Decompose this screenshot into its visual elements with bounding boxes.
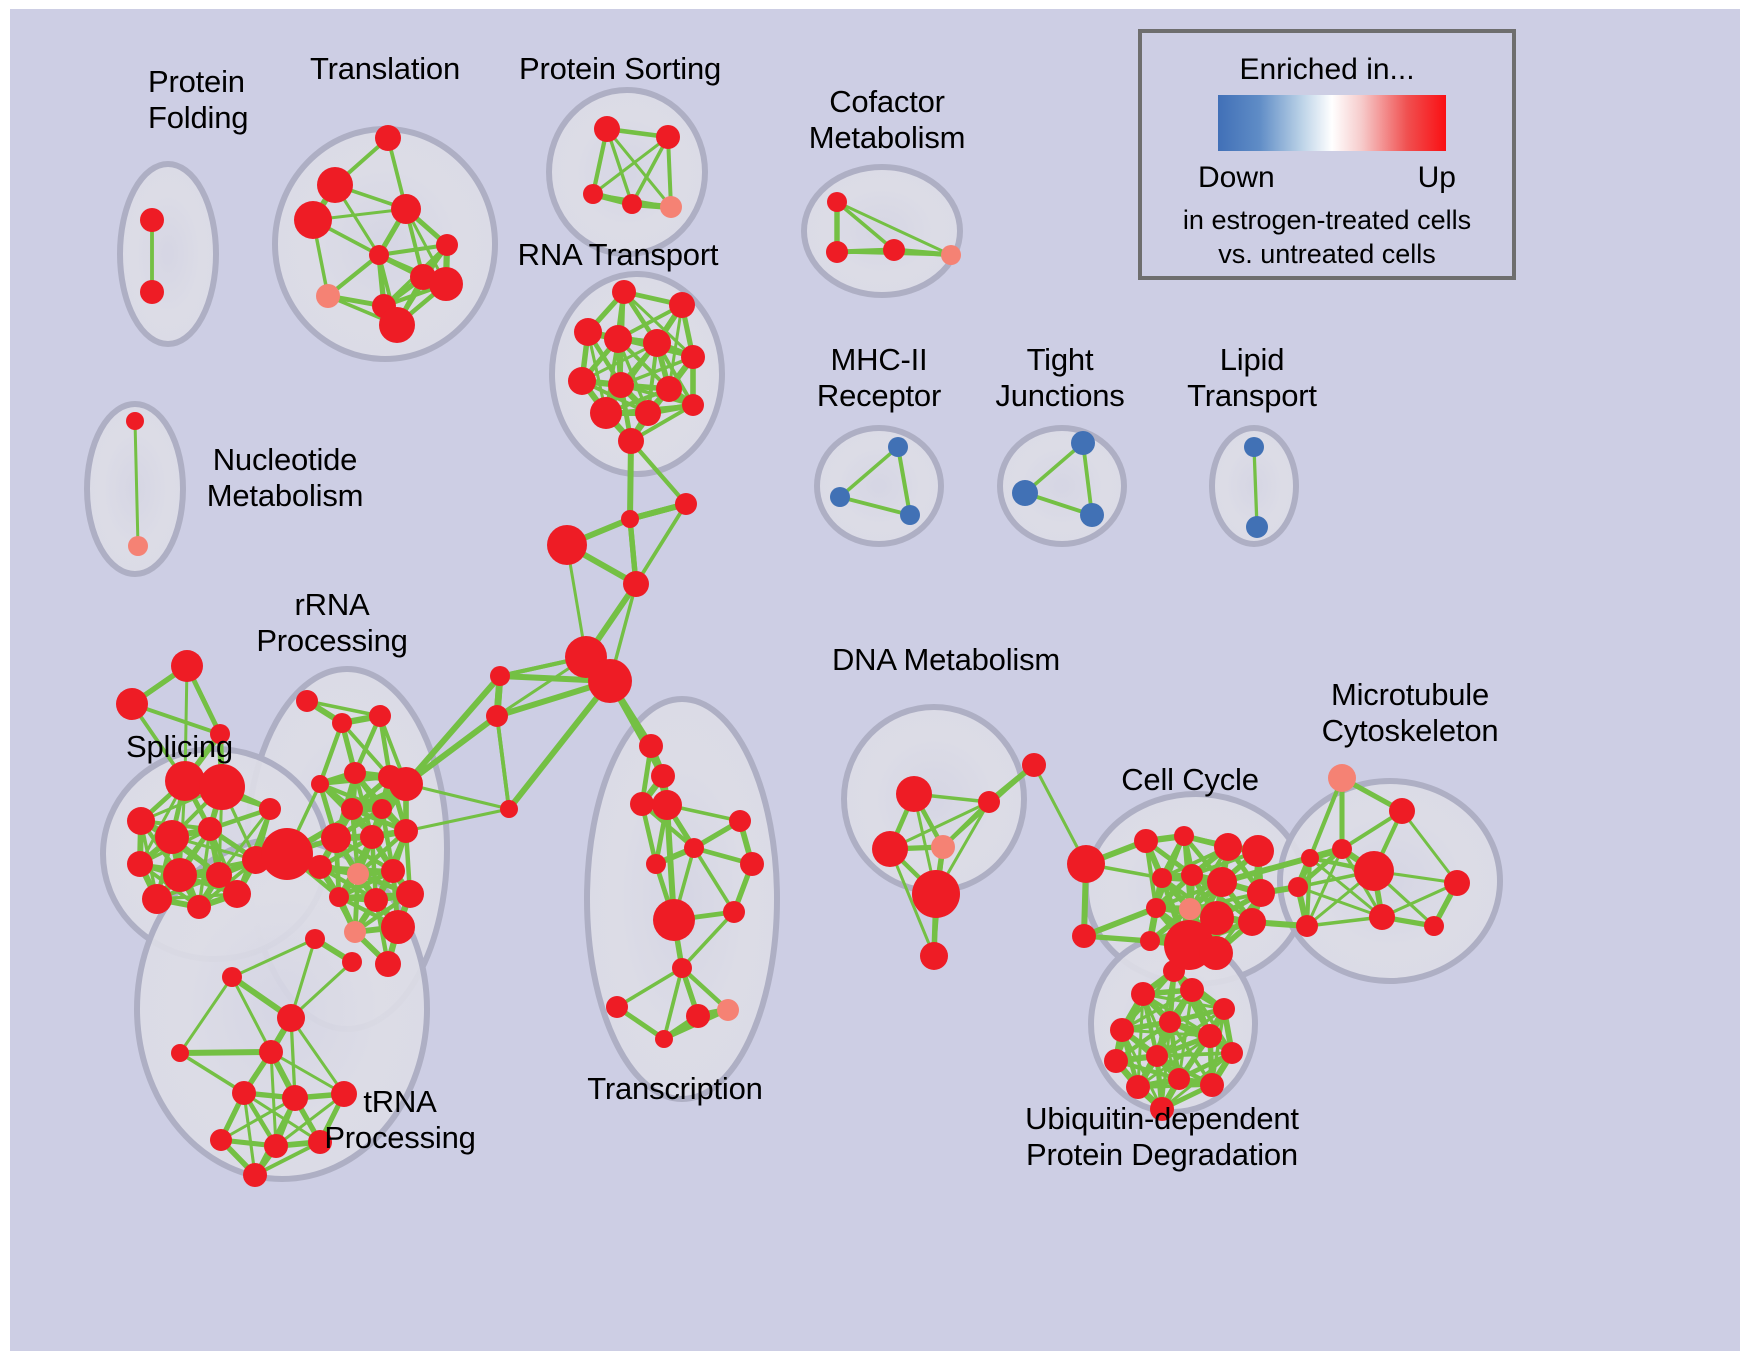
network-node bbox=[639, 734, 663, 758]
network-node bbox=[347, 863, 369, 885]
network-node bbox=[653, 899, 695, 941]
network-node bbox=[232, 1081, 256, 1105]
network-node bbox=[896, 776, 932, 812]
network-node bbox=[1180, 978, 1204, 1002]
network-node bbox=[574, 318, 602, 346]
network-node bbox=[128, 536, 148, 556]
network-node bbox=[594, 116, 620, 142]
cluster-label-nucleotide-metabolism: NucleotideMetabolism bbox=[207, 442, 364, 514]
network-node bbox=[332, 713, 352, 733]
network-node bbox=[199, 764, 245, 810]
network-edge bbox=[180, 1052, 271, 1053]
network-node bbox=[296, 690, 318, 712]
network-node bbox=[1247, 879, 1275, 907]
network-node bbox=[621, 510, 639, 528]
network-node bbox=[381, 859, 405, 883]
cluster-label-rna-transport: RNA Transport bbox=[518, 237, 719, 273]
network-node bbox=[127, 851, 153, 877]
cluster-label-microtubule-cytoskeleton: MicrotubuleCytoskeleton bbox=[1322, 677, 1499, 749]
network-node bbox=[342, 952, 362, 972]
network-node bbox=[171, 650, 203, 682]
network-node bbox=[608, 372, 634, 398]
cluster-label-protein-sorting: Protein Sorting bbox=[519, 51, 721, 87]
network-node bbox=[1288, 877, 1308, 897]
network-node bbox=[675, 493, 697, 515]
network-node bbox=[311, 775, 329, 793]
network-node bbox=[740, 852, 764, 876]
network-node bbox=[622, 194, 642, 214]
network-node bbox=[116, 688, 148, 720]
network-node bbox=[660, 196, 682, 218]
network-node bbox=[381, 910, 415, 944]
network-node bbox=[1199, 936, 1233, 970]
network-node bbox=[389, 767, 423, 801]
network-node bbox=[651, 764, 675, 788]
network-node bbox=[618, 428, 644, 454]
network-node bbox=[630, 792, 654, 816]
network-node bbox=[1146, 898, 1166, 918]
network-node bbox=[590, 397, 622, 429]
network-node bbox=[1104, 1049, 1128, 1073]
network-node bbox=[1168, 1068, 1190, 1090]
network-node bbox=[1134, 829, 1158, 853]
network-node bbox=[369, 705, 391, 727]
network-node bbox=[500, 800, 518, 818]
network-node bbox=[316, 284, 340, 308]
network-node bbox=[1174, 826, 1194, 846]
network-node bbox=[1126, 1075, 1150, 1099]
network-node bbox=[1152, 868, 1172, 888]
network-node bbox=[155, 820, 189, 854]
cluster-ellipse-cofactor-metabolism bbox=[804, 167, 960, 295]
network-node bbox=[920, 942, 948, 970]
cluster-label-translation: Translation bbox=[310, 51, 460, 87]
network-node bbox=[1354, 851, 1394, 891]
network-node bbox=[1207, 867, 1237, 897]
network-node bbox=[723, 901, 745, 923]
network-node bbox=[126, 412, 144, 430]
legend-color-gradient-bar bbox=[1218, 95, 1446, 151]
cluster-label-protein-folding: ProteinFolding bbox=[148, 64, 248, 136]
legend-box: Enriched in... Down Up in estrogen-treat… bbox=[1138, 29, 1516, 280]
network-node bbox=[1444, 870, 1470, 896]
cluster-label-ubiquitin-protein-degradation: Ubiquitin-dependentProtein Degradation bbox=[1025, 1101, 1299, 1173]
network-node bbox=[391, 194, 421, 224]
network-node bbox=[729, 810, 751, 832]
network-node bbox=[684, 838, 704, 858]
network-node bbox=[1067, 845, 1105, 883]
cluster-label-rrna-processing: rRNAProcessing bbox=[256, 587, 407, 659]
network-node bbox=[1213, 998, 1235, 1020]
network-node bbox=[643, 329, 671, 357]
network-node bbox=[1328, 764, 1356, 792]
network-node bbox=[142, 884, 172, 914]
network-node bbox=[486, 705, 508, 727]
network-node bbox=[606, 996, 628, 1018]
network-node bbox=[305, 929, 325, 949]
network-node bbox=[1198, 1024, 1222, 1048]
legend-subtitle-line2: vs. untreated cells bbox=[1142, 239, 1512, 270]
network-node bbox=[900, 505, 920, 525]
network-node bbox=[583, 184, 603, 204]
legend-up-label: Up bbox=[1418, 161, 1456, 195]
network-node bbox=[1332, 839, 1352, 859]
network-node bbox=[222, 967, 242, 987]
legend-subtitle-line1: in estrogen-treated cells bbox=[1142, 205, 1512, 236]
network-node bbox=[888, 437, 908, 457]
network-node bbox=[1159, 1011, 1181, 1033]
network-node bbox=[364, 888, 388, 912]
cluster-ellipse-mhc-ii-receptor bbox=[817, 428, 941, 544]
legend-down-label: Down bbox=[1198, 161, 1275, 195]
network-node bbox=[344, 762, 366, 784]
network-node bbox=[264, 1134, 288, 1158]
network-node bbox=[652, 790, 682, 820]
cluster-label-dna-metabolism: DNA Metabolism bbox=[832, 642, 1060, 678]
network-node bbox=[344, 921, 366, 943]
network-node bbox=[717, 999, 739, 1021]
network-node bbox=[198, 817, 222, 841]
network-node bbox=[1140, 931, 1160, 951]
network-node bbox=[1301, 849, 1319, 867]
network-node bbox=[547, 525, 587, 565]
network-node bbox=[436, 234, 458, 256]
network-node bbox=[872, 831, 908, 867]
network-node bbox=[1244, 437, 1264, 457]
network-node bbox=[1131, 982, 1155, 1006]
network-figure-canvas: ProteinFoldingTranslationNucleotideMetab… bbox=[10, 9, 1740, 1351]
network-node bbox=[259, 798, 281, 820]
network-node bbox=[941, 245, 961, 265]
network-node bbox=[1072, 924, 1096, 948]
network-node bbox=[883, 239, 905, 261]
network-node bbox=[1146, 1045, 1168, 1067]
network-node bbox=[686, 1004, 710, 1028]
network-node bbox=[317, 167, 353, 203]
cluster-label-tight-junctions: TightJunctions bbox=[995, 342, 1124, 414]
network-node bbox=[127, 807, 155, 835]
network-node bbox=[635, 400, 661, 426]
network-node bbox=[826, 241, 848, 263]
network-node bbox=[1214, 833, 1242, 861]
network-node bbox=[672, 958, 692, 978]
network-node bbox=[978, 791, 1000, 813]
network-node bbox=[1424, 916, 1444, 936]
legend-title: Enriched in... bbox=[1142, 53, 1512, 87]
network-node bbox=[623, 571, 649, 597]
network-node bbox=[277, 1004, 305, 1032]
network-node bbox=[187, 895, 211, 919]
network-node bbox=[646, 854, 666, 874]
network-node bbox=[931, 835, 955, 859]
cluster-ellipse-protein-sorting bbox=[549, 90, 705, 254]
network-node bbox=[655, 1030, 673, 1048]
network-node bbox=[827, 192, 847, 212]
network-node bbox=[568, 367, 596, 395]
network-node bbox=[259, 1040, 283, 1064]
network-node bbox=[163, 858, 197, 892]
network-node bbox=[1012, 480, 1038, 506]
network-node bbox=[308, 855, 332, 879]
cluster-label-splicing: Splicing bbox=[126, 729, 233, 765]
network-node bbox=[165, 761, 205, 801]
network-node bbox=[612, 280, 636, 304]
network-node bbox=[375, 951, 401, 977]
network-node bbox=[379, 307, 415, 343]
network-node bbox=[681, 345, 705, 369]
network-node bbox=[656, 376, 682, 402]
network-node bbox=[1022, 753, 1046, 777]
network-node bbox=[372, 799, 392, 819]
network-node bbox=[294, 201, 332, 239]
network-node bbox=[1369, 904, 1395, 930]
network-node bbox=[261, 828, 313, 880]
network-node bbox=[1179, 898, 1201, 920]
network-edge bbox=[509, 681, 610, 809]
network-node bbox=[1110, 1018, 1134, 1042]
cluster-label-cell-cycle: Cell Cycle bbox=[1121, 762, 1259, 798]
network-node bbox=[490, 666, 510, 686]
cluster-ellipse-transcription bbox=[587, 699, 777, 1099]
network-node bbox=[1246, 516, 1268, 538]
network-node bbox=[656, 125, 680, 149]
network-node bbox=[669, 292, 695, 318]
network-node bbox=[369, 245, 389, 265]
network-node bbox=[1221, 1042, 1243, 1064]
network-node bbox=[243, 1163, 267, 1187]
network-node bbox=[140, 280, 164, 304]
cluster-ellipse-protein-folding bbox=[120, 164, 216, 344]
network-node bbox=[604, 325, 632, 353]
network-node bbox=[321, 823, 351, 853]
network-node bbox=[329, 887, 349, 907]
cluster-label-lipid-transport: LipidTransport bbox=[1187, 342, 1317, 414]
network-node bbox=[1080, 503, 1104, 527]
network-node bbox=[429, 267, 463, 301]
network-node bbox=[375, 125, 401, 151]
cluster-label-mhc-ii-receptor: MHC-IIReceptor bbox=[817, 342, 941, 414]
network-node bbox=[830, 487, 850, 507]
network-node bbox=[140, 208, 164, 232]
network-node bbox=[1296, 915, 1318, 937]
network-node bbox=[171, 1044, 189, 1062]
network-node bbox=[223, 880, 251, 908]
network-node bbox=[210, 1129, 232, 1151]
cluster-label-trna-processing: tRNAProcessing bbox=[324, 1084, 475, 1156]
network-node bbox=[1071, 431, 1095, 455]
network-node bbox=[282, 1085, 308, 1111]
network-node bbox=[1389, 798, 1415, 824]
cluster-label-cofactor-metabolism: CofactorMetabolism bbox=[809, 84, 966, 156]
network-node bbox=[682, 394, 704, 416]
network-node bbox=[588, 659, 632, 703]
network-node bbox=[394, 819, 418, 843]
network-node bbox=[360, 825, 384, 849]
network-node bbox=[396, 880, 424, 908]
network-node bbox=[1238, 908, 1266, 936]
cluster-label-transcription: Transcription bbox=[587, 1071, 762, 1107]
network-node bbox=[1242, 835, 1274, 867]
network-edge bbox=[497, 716, 509, 809]
network-node bbox=[341, 798, 363, 820]
network-node bbox=[912, 870, 960, 918]
network-node bbox=[1181, 864, 1203, 886]
network-node bbox=[1200, 1073, 1224, 1097]
